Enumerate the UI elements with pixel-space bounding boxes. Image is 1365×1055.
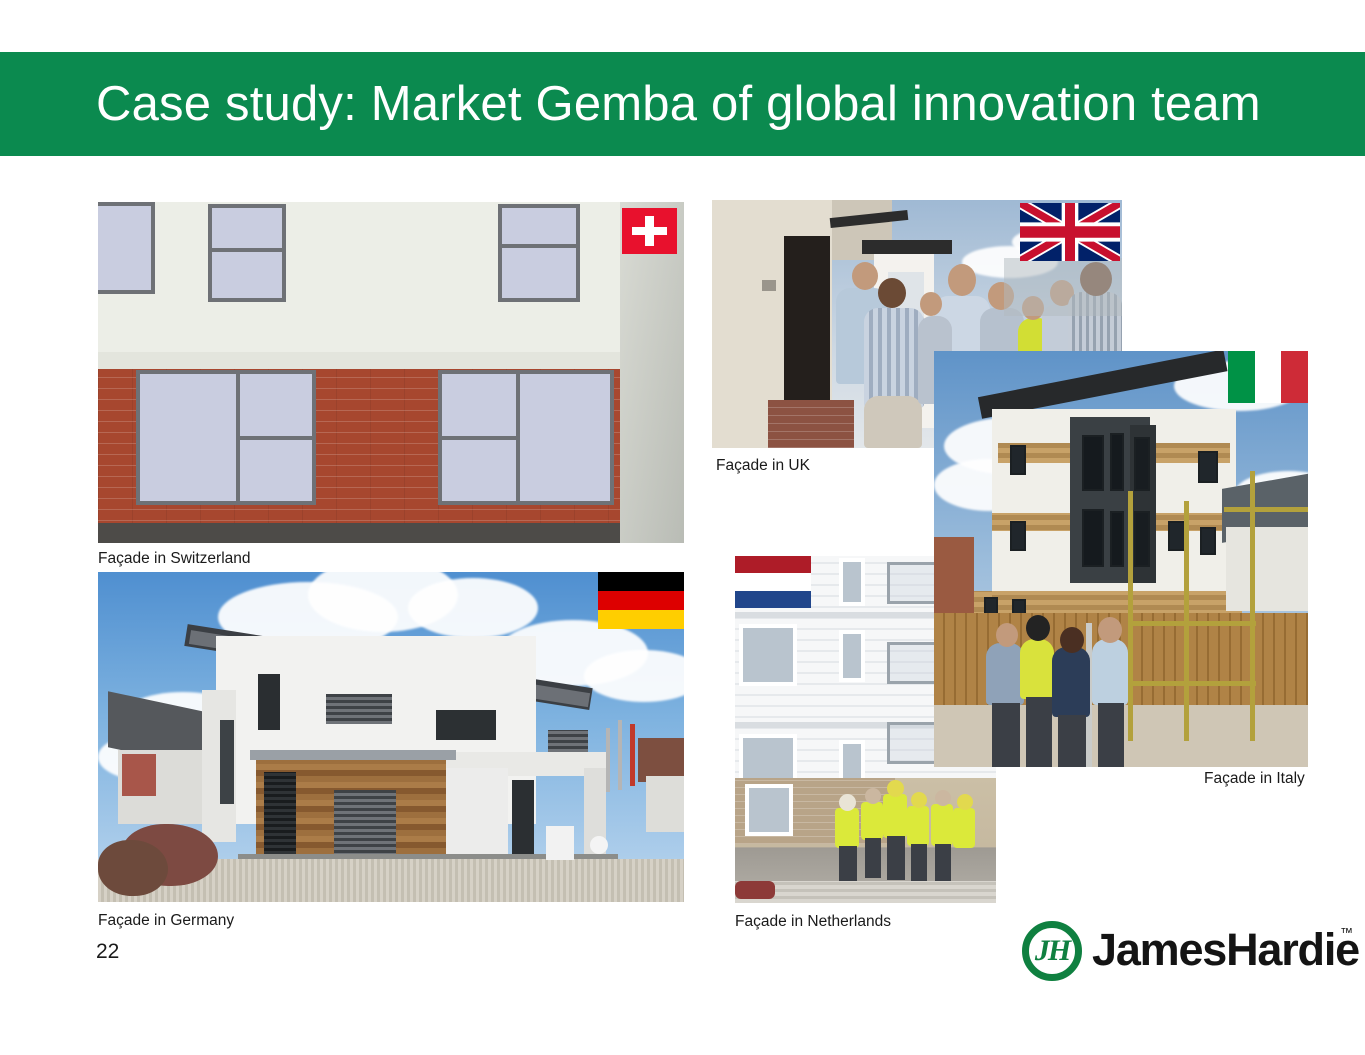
- germany-flag: [598, 572, 684, 629]
- photo-italy: [934, 351, 1308, 767]
- logo-wordmark: JamesHardie: [1092, 924, 1359, 976]
- germany-scene: [98, 572, 684, 902]
- switzerland-flag: [622, 208, 677, 254]
- photo-switzerland: [98, 202, 684, 543]
- jh-monogram-icon: JH: [1022, 921, 1082, 981]
- caption-switzerland: Façade in Switzerland: [98, 550, 251, 568]
- caption-germany: Façade in Germany: [98, 912, 234, 930]
- jh-monogram-text: JH: [1029, 928, 1075, 974]
- italy-scene: [934, 351, 1308, 767]
- presentation-slide: Case study: Market Gemba of global innov…: [0, 0, 1365, 1055]
- netherlands-flag: [735, 556, 811, 608]
- page-title: Case study: Market Gemba of global innov…: [96, 76, 1261, 132]
- caption-italy: Façade in Italy: [1204, 770, 1305, 788]
- italy-flag: [1228, 351, 1308, 403]
- page-number: 22: [96, 940, 119, 964]
- jameshardie-logo: JH JamesHardie ™: [1022, 921, 1352, 983]
- union-jack-svg: [1020, 203, 1120, 261]
- caption-netherlands: Façade in Netherlands: [735, 913, 891, 931]
- caption-uk: Façade in UK: [716, 457, 810, 475]
- switzerland-scene: [98, 202, 684, 543]
- slide-title-band: Case study: Market Gemba of global innov…: [0, 52, 1365, 156]
- photo-germany: [98, 572, 684, 902]
- united-kingdom-flag: [1020, 203, 1120, 261]
- trademark-symbol: ™: [1340, 925, 1353, 940]
